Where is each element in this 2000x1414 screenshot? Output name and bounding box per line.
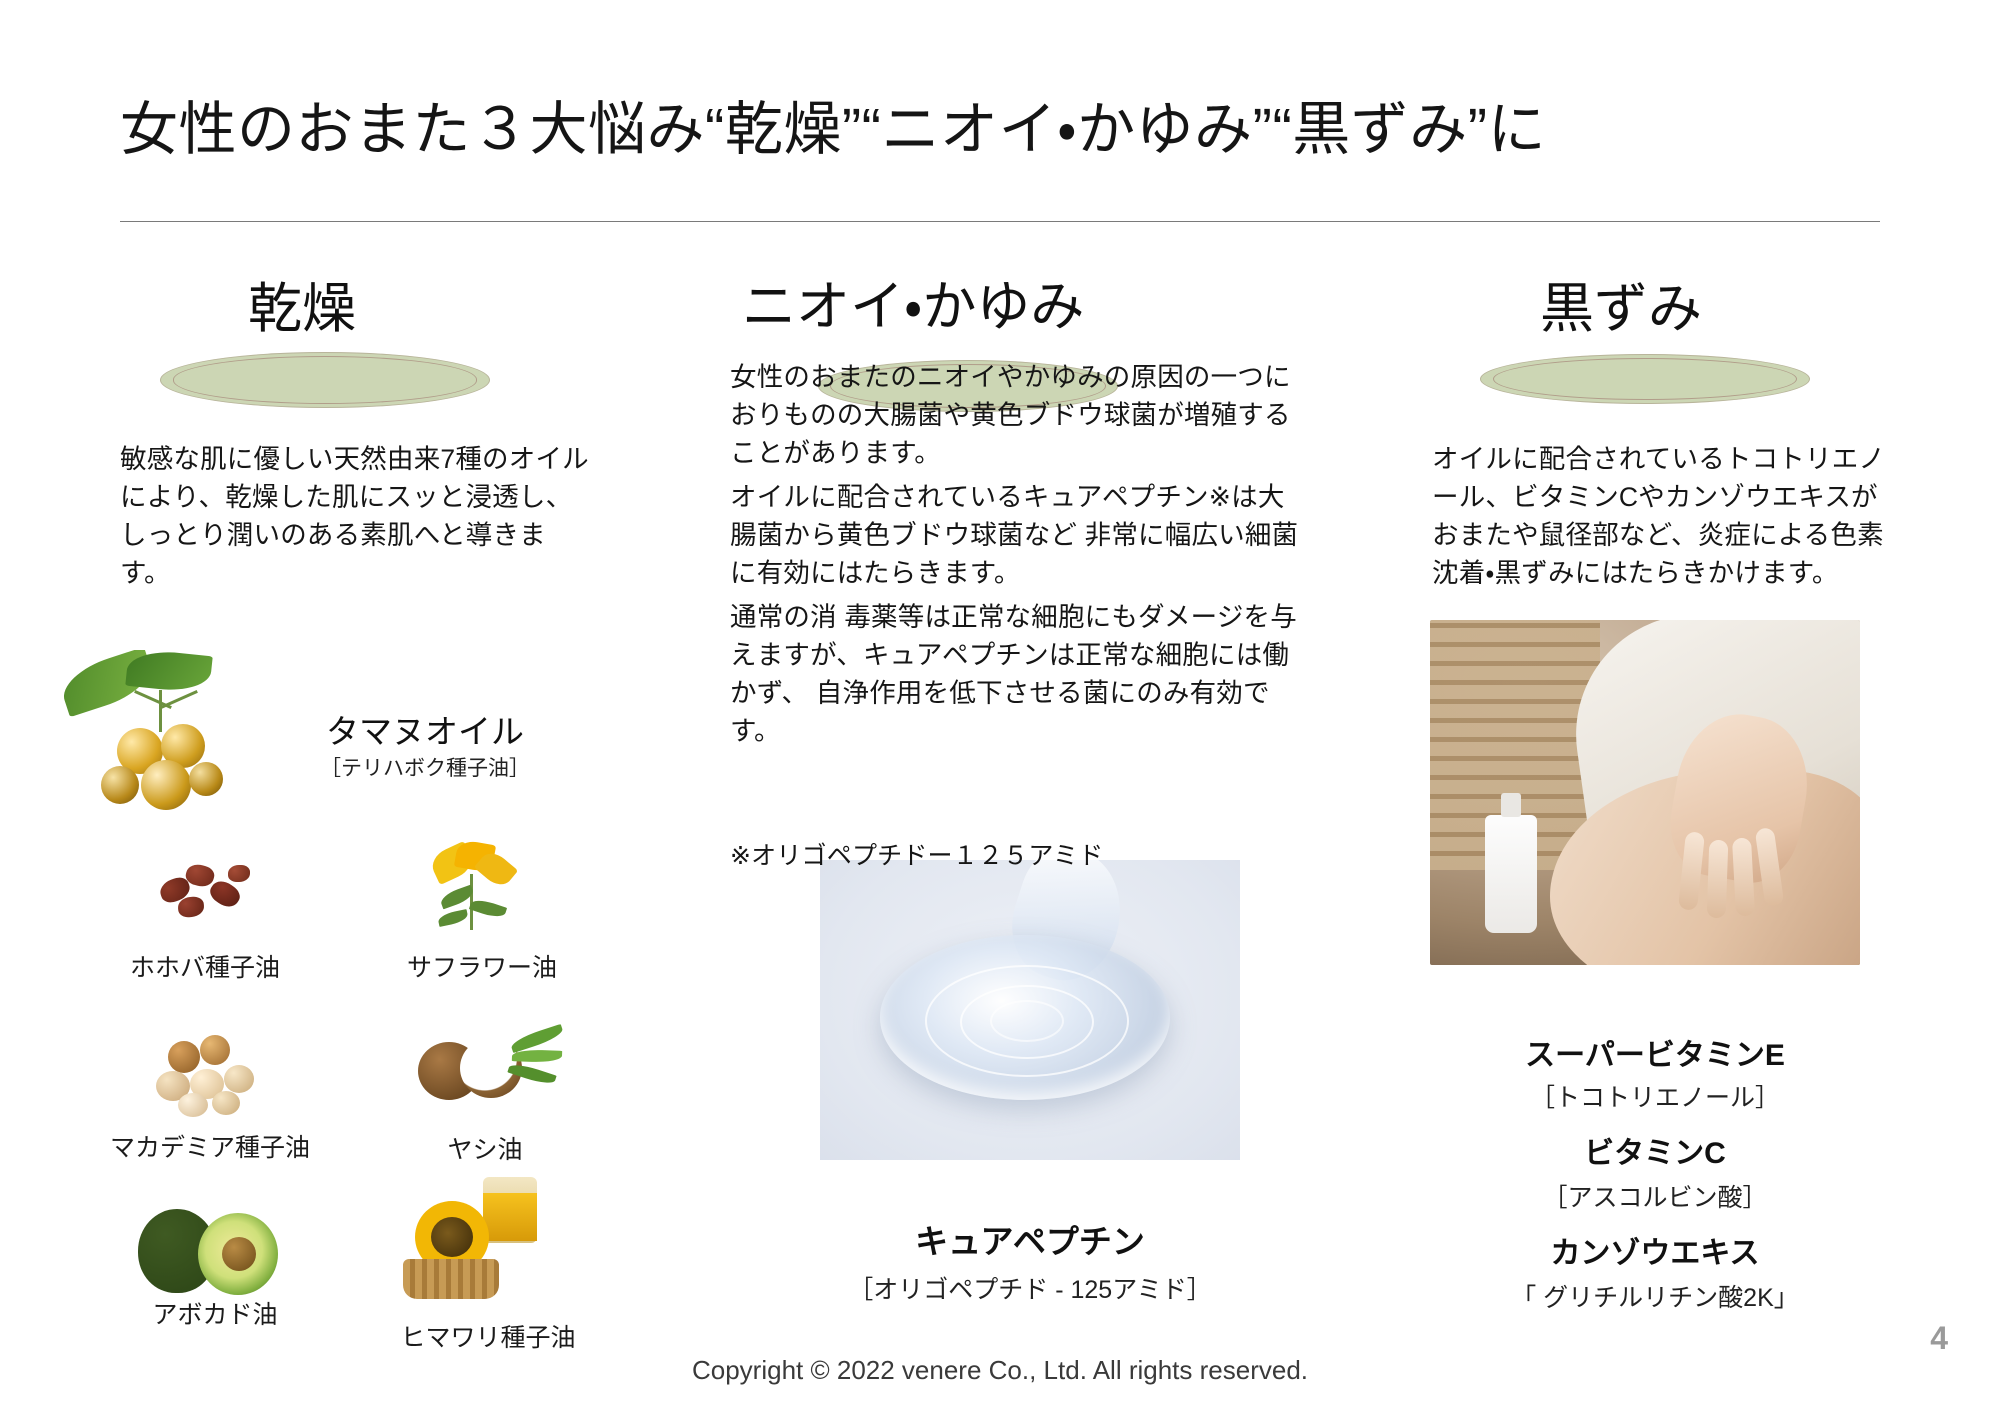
ingredient-label-jojoba: ホホバ種子油: [105, 948, 305, 984]
tamanu-oil-photo: [55, 650, 305, 830]
title-divider: [120, 221, 1880, 222]
feature-ingredient-inci-dry: ［テリハボク種子油］: [290, 752, 560, 782]
feature-ingredient-name-odor: キュアペプチン: [820, 1215, 1240, 1263]
ingredient-name-vitamin-c: ビタミンC: [1440, 1128, 1870, 1172]
section-body-dark: オイルに配合されているトコトリエノール、ビタミンCやカンゾウエキスがおまたや鼠径…: [1432, 440, 1902, 593]
coconut-photo: [400, 1020, 570, 1130]
heading-highlight-ellipse-dark: [1480, 354, 1810, 404]
ingredient-name-licorice: カンゾウエキス: [1440, 1228, 1870, 1272]
copyright-footer: Copyright © 2022 venere Co., Ltd. All ri…: [0, 1355, 2000, 1386]
serum-droplet-photo: [820, 860, 1240, 1160]
ingredient-label-coconut: ヤシ油: [410, 1130, 560, 1166]
section-heading-dark: 黒ずみ: [1540, 282, 1702, 336]
safflower-photo: [400, 838, 560, 938]
avocado-photo: [130, 1195, 300, 1305]
macadamia-nuts-photo: [130, 1025, 290, 1125]
section-body-odor-2: オイルに配合されているキュアペプチン※は大腸菌から黄色ブドウ球菌など 非常に幅広…: [730, 478, 1300, 592]
ingredient-inci-vitamin-e: ［トコトリエノール］: [1440, 1078, 1870, 1114]
feature-ingredient-inci-odor: ［オリゴペプチド - 125アミド］: [820, 1270, 1240, 1306]
ingredient-name-vitamin-e: スーパービタミンE: [1440, 1030, 1870, 1074]
jojoba-seeds-photo: [128, 845, 278, 935]
leg-skincare-photo: [1430, 620, 1860, 965]
page-title: 女性のおまた３大悩み“乾燥”“ニオイ・かゆみ”“黒ずみ”に: [120, 98, 1880, 162]
section-body-odor-1: 女性のおまたのニオイやかゆみの原因の一つにおりものの大腸菌や黄色ブドウ球菌が増殖…: [730, 358, 1300, 472]
section-heading-odor: ニオイ・かゆみ: [742, 280, 1084, 334]
slide-root: 女性のおまた３大悩み“乾燥”“ニオイ・かゆみ”“黒ずみ”に 乾燥 敏感な肌に優し…: [0, 0, 2000, 1414]
page-number: 4: [1930, 1320, 1948, 1357]
feature-ingredient-name-dry: タマヌオイル: [290, 705, 560, 753]
ingredient-label-avocado: アボカド油: [120, 1295, 310, 1331]
section-body-odor-3: 通常の消 毒薬等は正常な細胞にもダメージを与えますが、キュアペプチンは正常な細胞…: [730, 598, 1300, 751]
ingredient-inci-licorice: 「 グリチルリチン酸2K」: [1440, 1278, 1870, 1314]
footnote-odor: ※オリゴペプチドー１２５アミド: [730, 838, 1330, 874]
ingredient-inci-vitamin-c: ［アスコルビン酸］: [1440, 1178, 1870, 1214]
section-body-dry: 敏感な肌に優しい天然由来7種のオイルにより、乾燥した肌にスッと浸透し、しっとり潤…: [120, 440, 590, 593]
sunflower-photo: [395, 1175, 575, 1305]
ingredient-label-sunflower: ヒマワリ種子油: [378, 1318, 598, 1354]
ingredient-label-safflower: サフラワー油: [382, 948, 582, 984]
ingredient-label-macadamia: マカデミア種子油: [85, 1128, 335, 1164]
heading-highlight-ellipse-dry: [160, 352, 490, 408]
section-heading-dry: 乾燥: [248, 282, 356, 336]
